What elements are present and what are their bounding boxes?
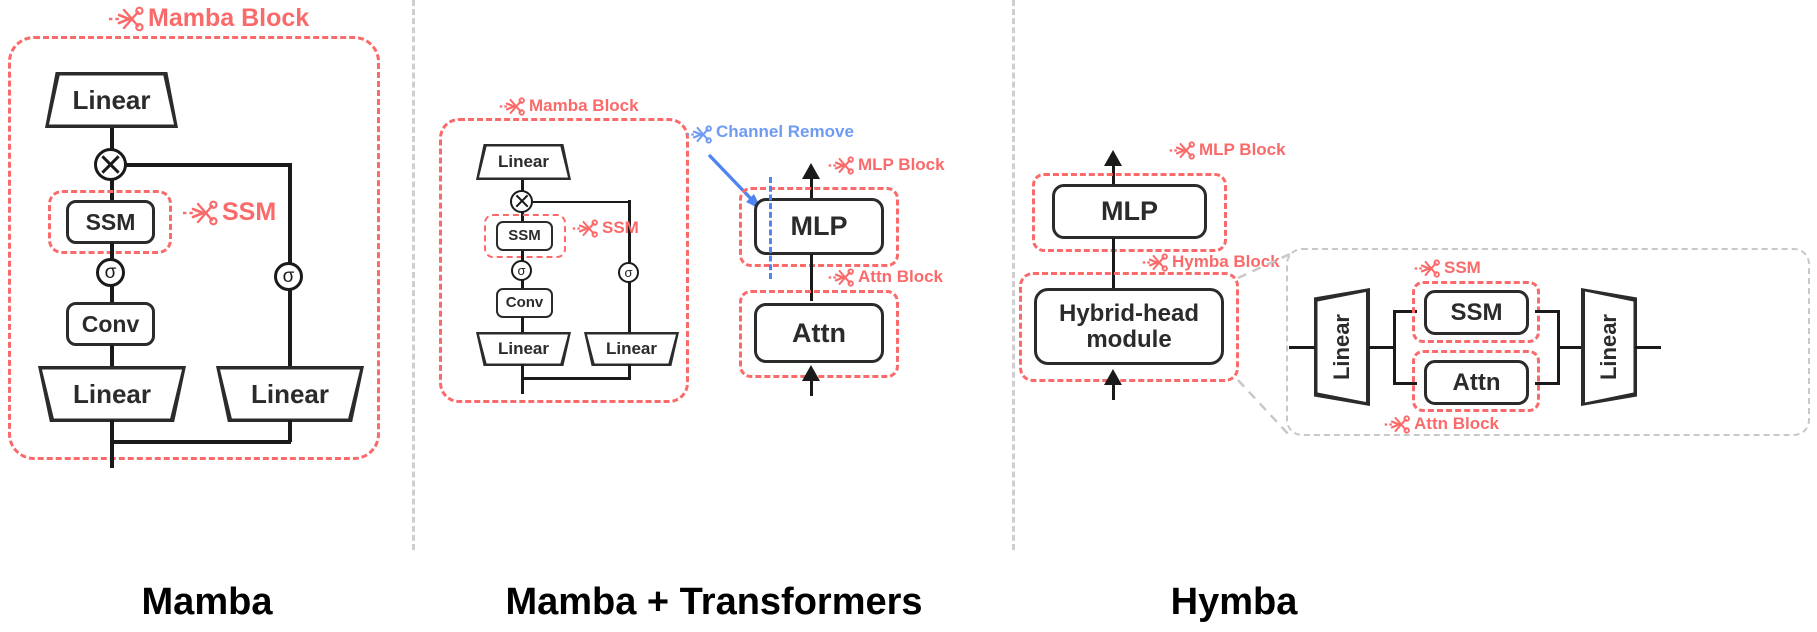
node-label: Linear [1596,314,1622,380]
edge-ssm-to-merge [1535,310,1559,313]
tag-mlp-block: MLP Block [828,155,945,175]
node-linear-bottom-left: Linear [38,366,186,422]
tag-mamba-block: Mamba Block [499,96,639,116]
op-sigma-right: σ [618,262,639,283]
node-label: SSM [86,210,136,234]
sigma-glyph: σ [624,266,632,279]
scissors-icon [1414,259,1440,278]
node-linear-bottom-right: Linear [216,366,364,422]
node-hybrid-head-module: Hybrid-head module [1034,288,1224,365]
node-linear-out: Linear [1581,288,1637,406]
edge-mul-to-gate [126,163,291,167]
edge-gate-down [288,163,292,269]
tag-channel-remove: Channel Remove [686,122,790,144]
scissors-icon [1169,141,1195,160]
tag-mlp-block: MLP Block [1169,140,1286,160]
tag-label: MLP Block [1199,140,1286,160]
scissors-icon [182,200,218,226]
panel-caption-hymba: Hymba [1014,581,1454,624]
edge-mul-to-gate [532,201,630,204]
node-conv: Conv [496,288,553,318]
op-multiply [510,190,533,213]
scissors-icon [828,268,854,287]
edge-split-main [1369,346,1395,349]
node-label: Linear [498,152,549,172]
panel-hymba: MLP Block MLP Hymba Block Hybrid-head mo… [1014,0,1817,632]
arrow-up-icon [1104,369,1122,385]
node-label-line1: Hybrid-head [1059,301,1199,326]
op-sigma-right: σ [274,262,303,291]
node-attn: Attn [1424,360,1529,405]
panel-caption-mamba: Mamba [0,581,414,624]
tag-ssm: SSM [182,198,276,227]
node-label: Conv [82,312,140,336]
edge-out-branch [628,364,631,378]
node-label: SSM [508,228,541,244]
panel-caption-hybrid: Mamba + Transformers [414,581,1014,624]
node-label: Conv [506,295,544,311]
edge-sigma-right-down [628,282,631,334]
node-label: Linear [251,379,329,410]
tag-label: Attn Block [858,267,943,287]
op-sigma-left: σ [511,260,532,281]
channel-remove-cut-line [769,177,772,279]
scissors-icon [1142,253,1168,272]
node-ssm: SSM [496,221,553,251]
panel-mamba: Mamba Block Linear SSM SSM σ [0,0,414,632]
tag-label: SSM [1444,258,1481,278]
edge-merge-main [1557,346,1583,349]
node-label: Linear [72,85,150,116]
tag-ssm: SSM [572,218,639,238]
node-label: MLP [1101,197,1158,226]
scissors-icon [108,6,144,32]
edge-attn-to-merge [1535,382,1559,385]
node-label: Linear [73,379,151,410]
tag-attn-block: Attn Block [828,267,943,287]
scissors-icon [499,97,525,116]
node-label: SSM [1450,300,1502,325]
edge-detail-out [1635,346,1661,349]
tag-label: Attn Block [1414,414,1499,434]
tag-label: SSM [222,198,276,227]
tag-ssm: SSM [1414,258,1481,278]
scissors-icon [1384,415,1410,434]
tag-attn-block: Attn Block [1384,414,1499,434]
edge-sigma-right-down [288,289,292,369]
edge-out-join [110,440,291,444]
node-mlp: MLP [754,198,884,255]
scissors-icon [828,156,854,175]
edge-out-branch [288,420,292,442]
tag-label: Mamba Block [148,4,309,33]
panel-mamba-transformers: Mamba Block Linear SSM SSM σ Conv [414,0,1014,632]
node-mlp: MLP [1052,184,1207,239]
node-label: MLP [791,212,848,241]
tag-mamba-block: Mamba Block [108,4,309,33]
edge-out-main [110,420,114,468]
node-label: Linear [606,339,657,359]
op-sigma-left: σ [96,258,125,287]
scissors-icon [686,125,712,144]
node-label: Attn [1453,370,1501,395]
sigma-glyph: σ [105,263,117,282]
tag-label: Mamba Block [529,96,639,116]
edge-detail-in [1289,346,1315,349]
tag-label: SSM [602,218,639,238]
node-linear-bottom-right: Linear [584,332,679,366]
scissors-icon [572,219,598,238]
sigma-glyph: σ [517,264,525,277]
node-attn: Attn [754,303,884,363]
node-linear-top: Linear [45,72,178,128]
node-label-line2: module [1086,327,1171,352]
arrow-up-icon [802,365,820,381]
node-label: Linear [1329,314,1355,380]
arrow-up-icon [802,163,820,179]
node-label: Attn [792,319,846,348]
node-linear-top: Linear [476,144,571,180]
edge-out-join [521,377,631,380]
tag-label: Channel Remove [716,122,790,142]
edge-split-vertical [1393,310,1396,385]
node-conv: Conv [66,302,155,346]
arrow-up-icon [1104,150,1122,166]
node-ssm: SSM [66,200,155,244]
edge-linear-to-mul [110,128,114,150]
node-linear-in: Linear [1314,288,1370,406]
node-ssm: SSM [1424,290,1529,335]
node-linear-bottom-left: Linear [476,332,571,366]
tag-label: MLP Block [858,155,945,175]
sigma-glyph: σ [283,267,295,286]
op-multiply [94,148,127,181]
node-label: Linear [498,339,549,359]
